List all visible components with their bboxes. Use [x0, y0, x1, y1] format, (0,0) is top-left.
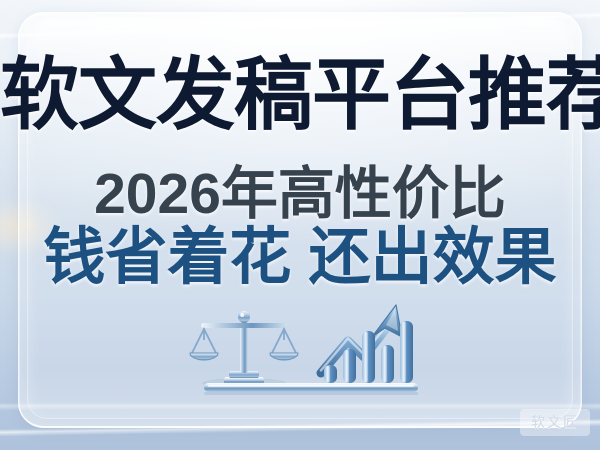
- illustration: [188, 295, 428, 400]
- poster-content: 软文发稿平台推荐 2026年高性价比 钱省着花 还出效果: [0, 0, 600, 450]
- subtitle-line-2: 钱省着花 还出效果: [0, 226, 600, 290]
- poster-canvas: 软文发稿平台推荐 2026年高性价比 钱省着花 还出效果: [0, 0, 600, 450]
- subtitle-line-1: 2026年高性价比: [0, 164, 600, 224]
- platform-base: [204, 383, 418, 395]
- page-title: 软文发稿平台推荐: [0, 52, 600, 138]
- watermark: 软文匠: [520, 409, 590, 436]
- balance-scale-icon: [190, 311, 298, 388]
